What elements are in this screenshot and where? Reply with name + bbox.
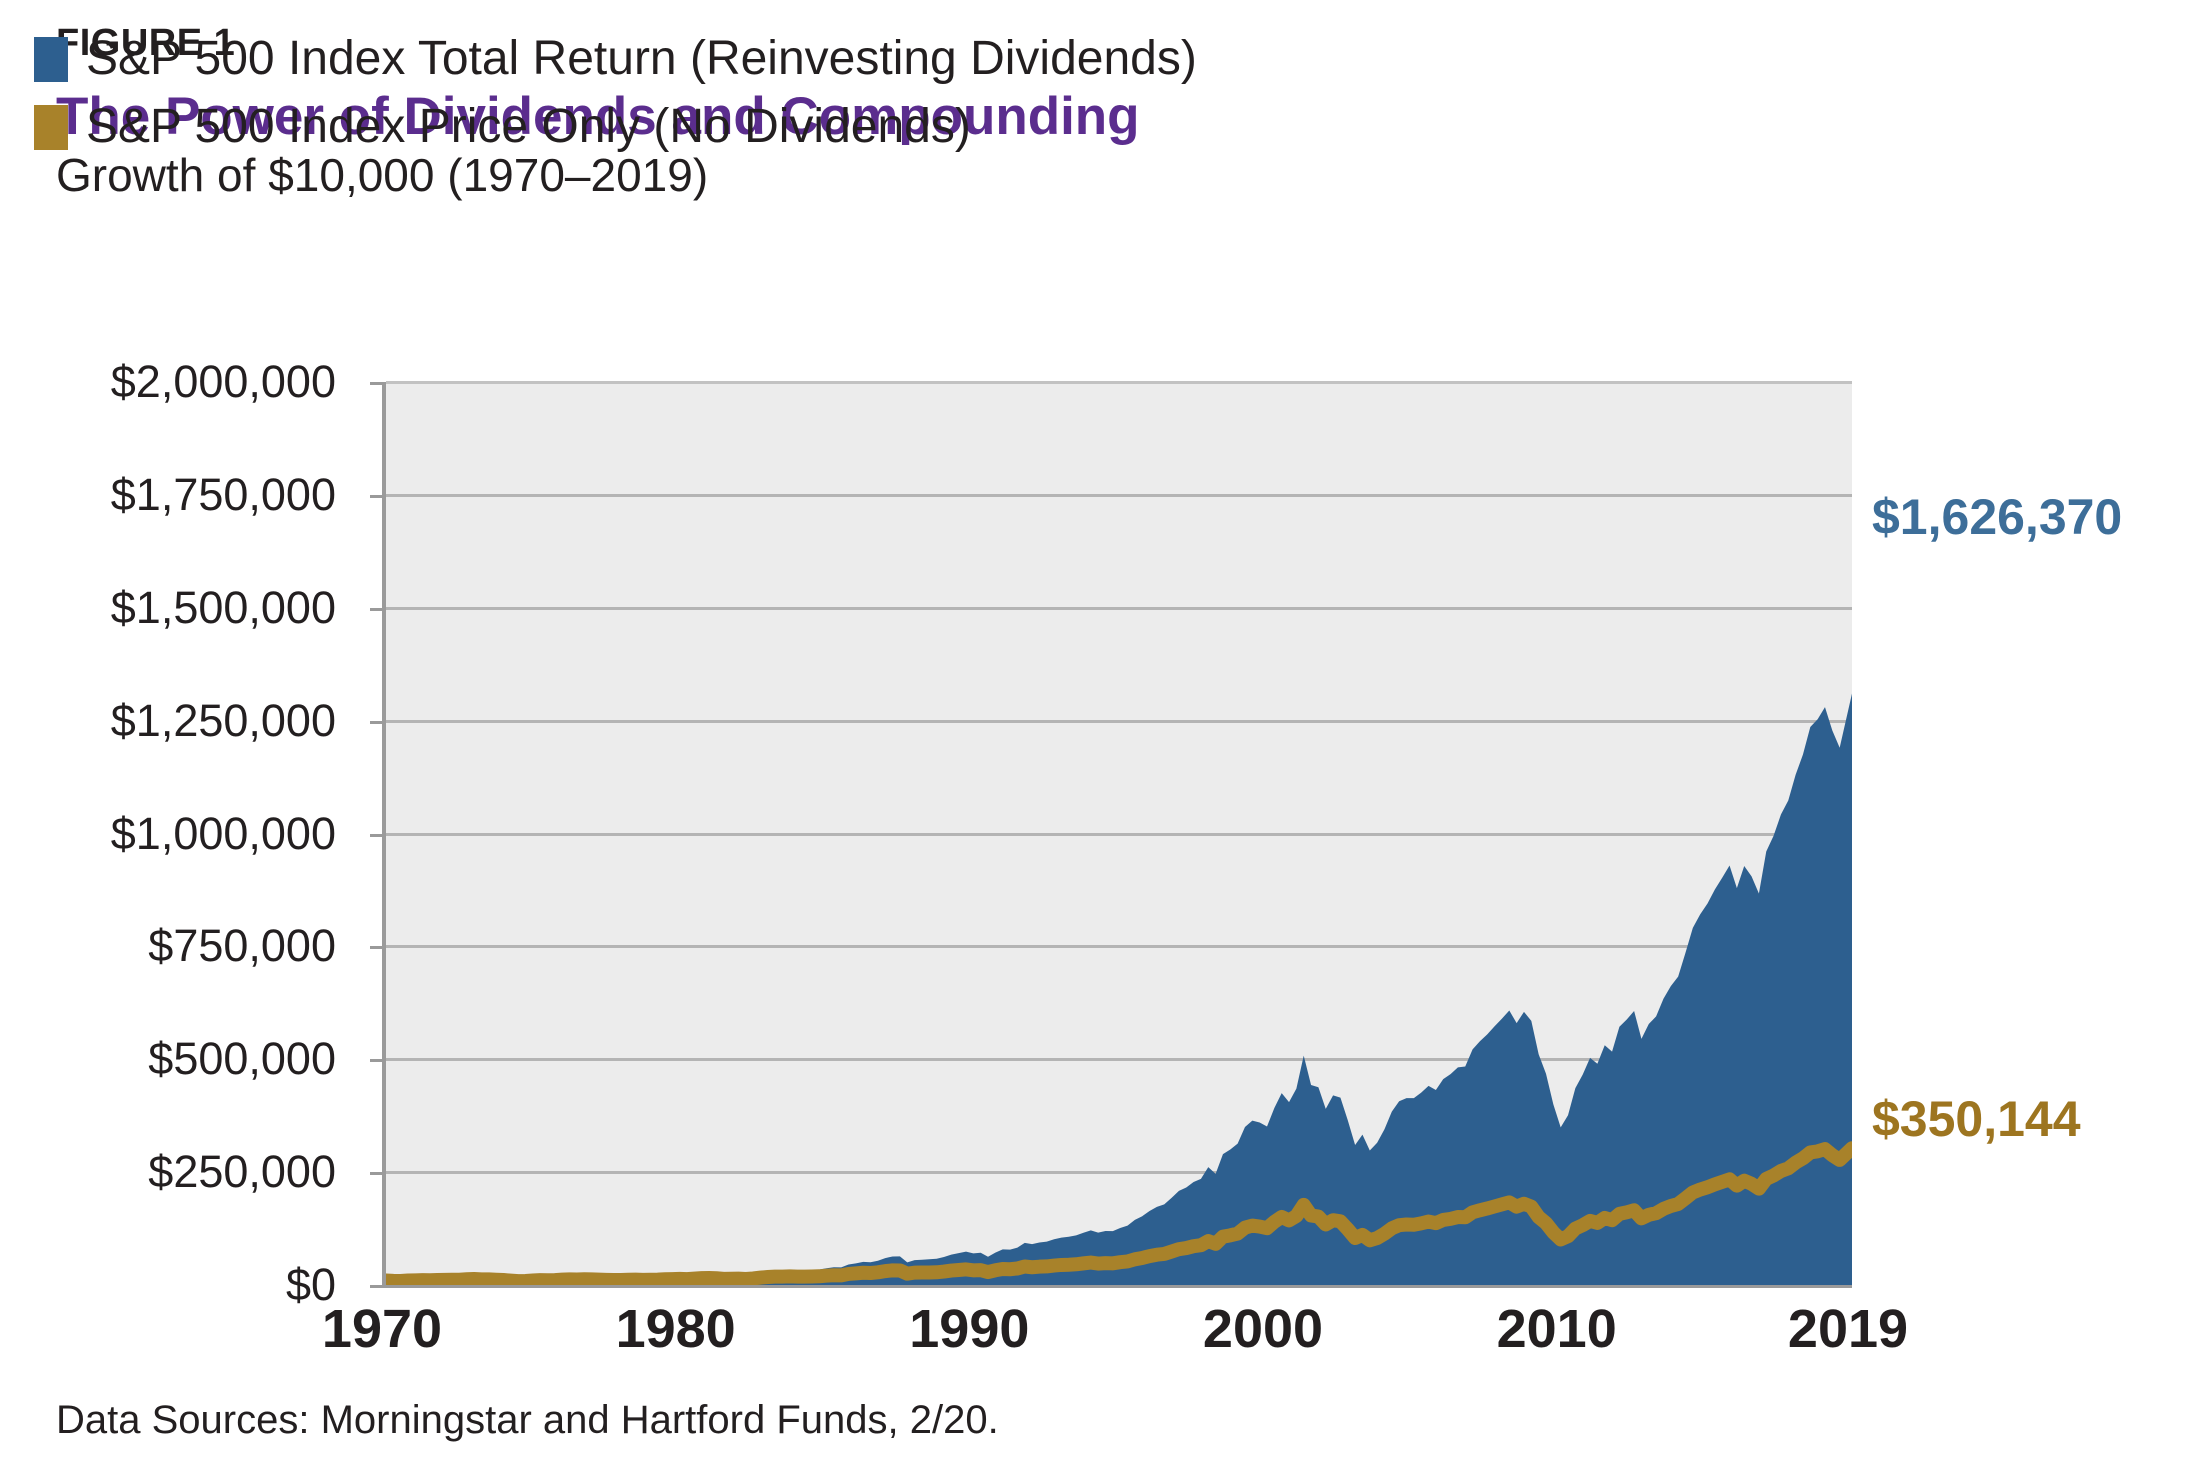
- y-axis-tick-label: $1,250,000: [111, 695, 336, 747]
- x-axis: 197019801990200020102019: [382, 1298, 1848, 1378]
- legend-label: S&P 500 Index Price Only (No Dividends): [86, 103, 971, 151]
- x-axis-tick-label: 1990: [909, 1298, 1029, 1360]
- chart-legend: S&P 500 Index Total Return (Reinvesting …: [34, 28, 1354, 164]
- y-axis-tick-mark: [370, 1285, 382, 1288]
- data-source-note: Data Sources: Morningstar and Hartford F…: [56, 1398, 999, 1443]
- y-axis-tick-mark: [370, 1059, 382, 1062]
- x-axis-tick-label: 2000: [1203, 1298, 1323, 1360]
- figure-root: FIGURE 1 The Power of Dividends and Comp…: [0, 0, 2188, 1480]
- y-axis-tick-mark: [370, 721, 382, 724]
- y-axis-tick-mark: [370, 834, 382, 837]
- y-axis-tick-mark: [370, 608, 382, 611]
- legend-swatch-total-return: [34, 37, 68, 82]
- y-axis-tick-label: $1,000,000: [111, 808, 336, 860]
- y-axis-tick-mark: [370, 495, 382, 498]
- y-axis-tick-label: $1,750,000: [111, 469, 336, 521]
- x-axis-tick-label: 2019: [1788, 1298, 1908, 1360]
- legend-label: S&P 500 Index Total Return (Reinvesting …: [86, 35, 1197, 83]
- y-axis-tick-mark: [370, 382, 382, 385]
- plot-area: [382, 382, 1852, 1288]
- x-axis-tick-label: 1980: [616, 1298, 736, 1360]
- callout-total-return: $1,626,370: [1872, 488, 2122, 546]
- y-axis: $2,000,000$1,750,000$1,500,000$1,250,000…: [0, 382, 358, 1285]
- y-axis-tick-marks: [370, 382, 382, 1288]
- callout-price-only: $350,144: [1872, 1090, 2081, 1148]
- y-axis-tick-label: $500,000: [148, 1033, 336, 1085]
- y-axis-tick-label: $1,500,000: [111, 582, 336, 634]
- y-axis-tick-mark: [370, 946, 382, 949]
- y-axis-tick-label: $250,000: [148, 1146, 336, 1198]
- y-axis-tick-label: $750,000: [148, 920, 336, 972]
- x-axis-tick-label: 1970: [322, 1298, 442, 1360]
- y-axis-tick-mark: [370, 1172, 382, 1175]
- legend-item: S&P 500 Index Total Return (Reinvesting …: [34, 28, 1354, 90]
- series-area-total-return: [386, 694, 1852, 1285]
- chart-canvas: [386, 382, 1852, 1285]
- legend-item: S&P 500 Index Price Only (No Dividends): [34, 96, 1354, 158]
- x-axis-tick-label: 2010: [1497, 1298, 1617, 1360]
- y-axis-tick-label: $2,000,000: [111, 356, 336, 408]
- legend-swatch-price-only: [34, 105, 68, 150]
